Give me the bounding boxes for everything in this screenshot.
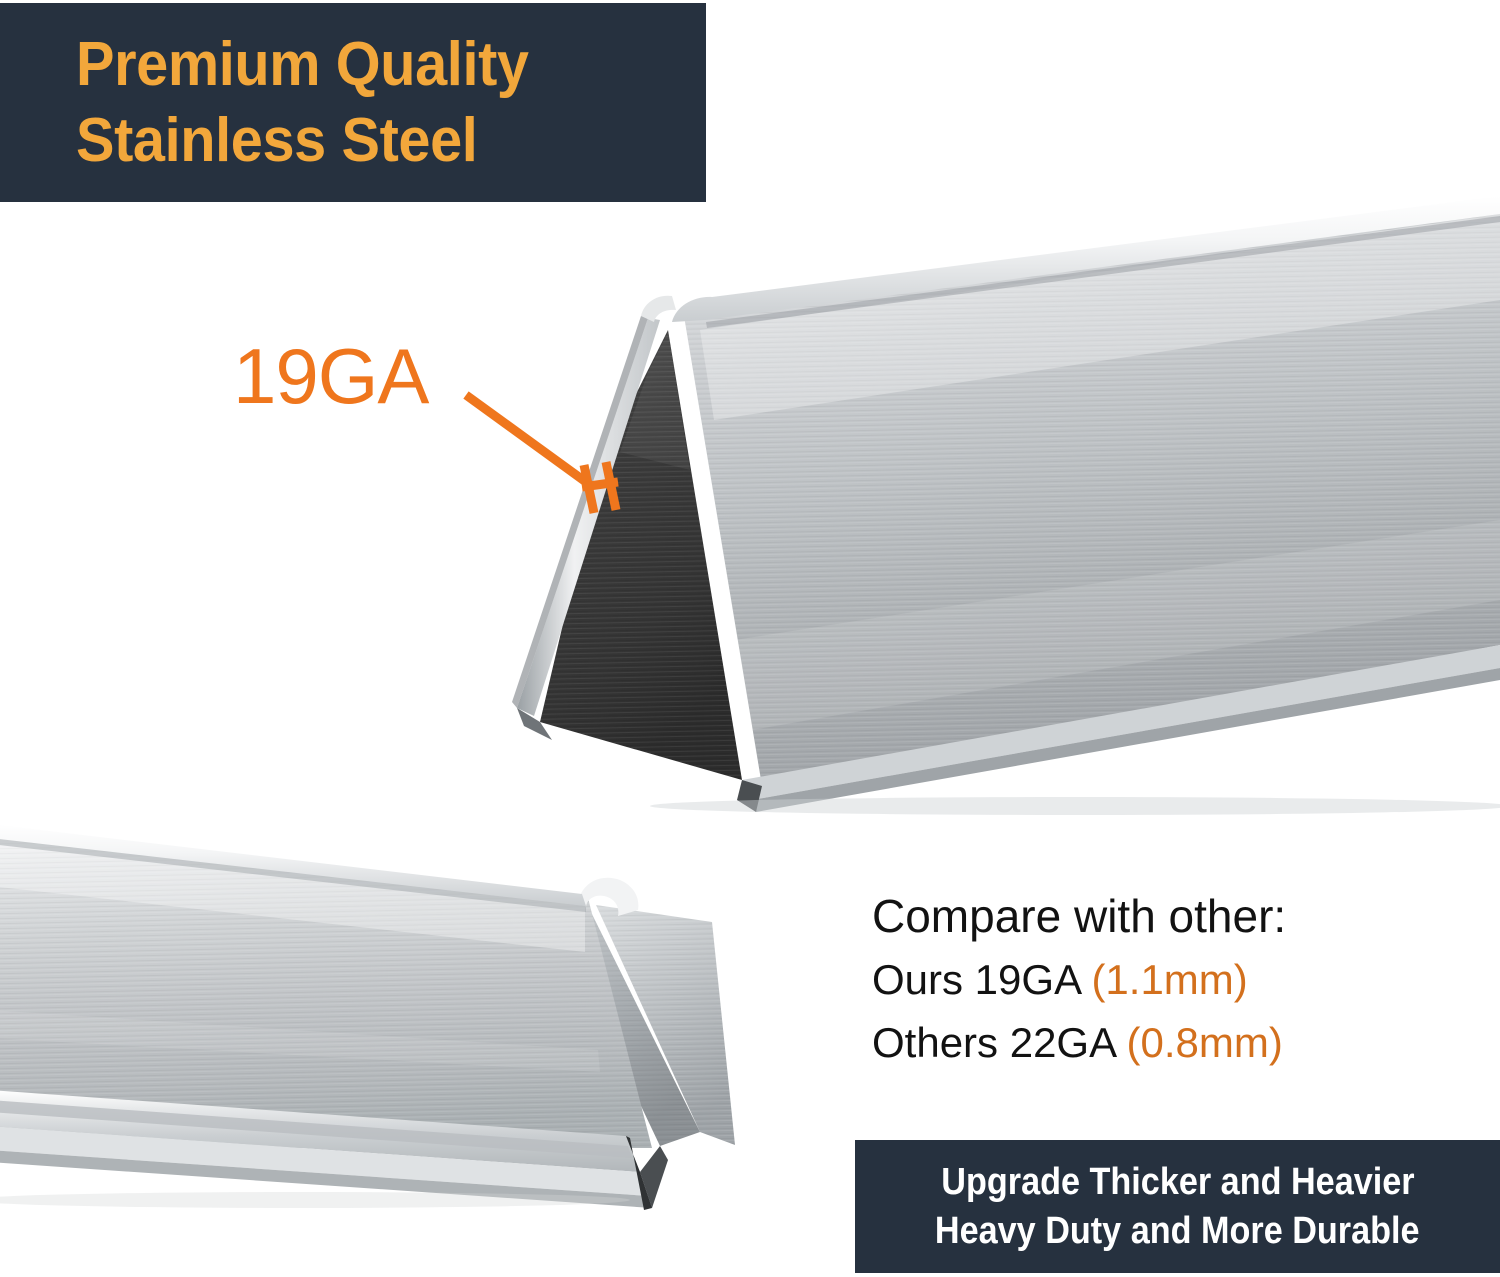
flavorizer-bar-top: [512, 196, 1500, 815]
product-infographic: Premium Quality Stainless Steel 19GA Com…: [0, 0, 1500, 1277]
flavorizer-bar-bottom: [0, 824, 735, 1210]
gauge-leader-line: [440, 370, 660, 550]
gauge-callout-label: 19GA: [233, 337, 428, 415]
thickness-caliper-icon: [582, 462, 618, 513]
comparison-row-others: Others 22GA (0.8mm): [872, 1011, 1432, 1074]
comparison-others-value: (0.8mm): [1126, 1019, 1282, 1066]
upgrade-banner-line-2: Heavy Duty and More Durable: [935, 1207, 1420, 1256]
upgrade-banner-line-1: Upgrade Thicker and Heavier: [941, 1158, 1414, 1207]
headline-badge: Premium Quality Stainless Steel: [0, 3, 706, 202]
comparison-title: Compare with other:: [872, 885, 1432, 948]
comparison-text-block: Compare with other: Ours 19GA (1.1mm) Ot…: [872, 885, 1432, 1074]
headline-line-2: Stainless Steel: [76, 103, 662, 179]
leader-stroke: [466, 395, 590, 485]
comparison-ours-value: (1.1mm): [1091, 956, 1247, 1003]
comparison-ours-name: Ours 19GA: [872, 956, 1080, 1003]
headline-line-1: Premium Quality: [76, 27, 662, 103]
comparison-row-ours: Ours 19GA (1.1mm): [872, 948, 1432, 1011]
comparison-others-name: Others 22GA: [872, 1019, 1115, 1066]
upgrade-banner: Upgrade Thicker and Heavier Heavy Duty a…: [855, 1140, 1500, 1273]
